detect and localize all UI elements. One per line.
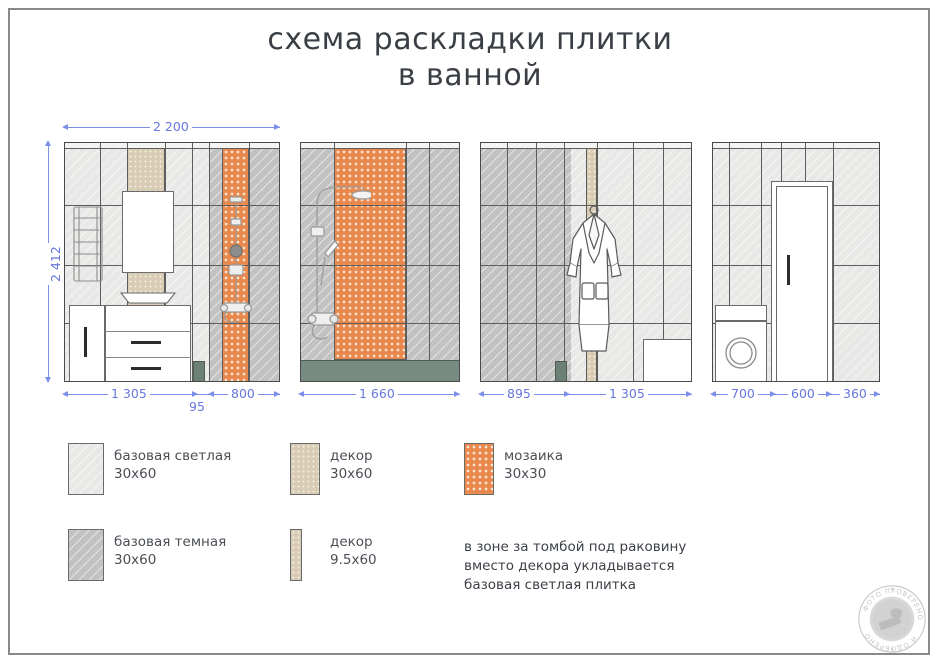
cabinet-handle: [84, 327, 87, 357]
bathrobe-icon: [565, 205, 623, 353]
dimension-wall3-895: 895: [504, 386, 534, 401]
door-leaf: [776, 186, 828, 382]
dimension-wall1-1305: 1 305: [108, 386, 150, 401]
legend-label-mosaic: мозаика: [504, 448, 563, 465]
legend-size-mosaic: 30x30: [504, 466, 546, 483]
wall2-floor-band: [301, 360, 460, 382]
legend-size-base-light: 30x60: [114, 466, 156, 483]
dimension-wall4-360: 360: [840, 386, 870, 401]
legend-swatch-decor-30x60: [290, 443, 320, 495]
wall-4-door: [712, 142, 880, 382]
legend-swatch-decor-9-5x60: [290, 529, 302, 581]
shower-set-icon: [217, 191, 255, 327]
legend-note-line3: базовая светлая плитка: [464, 576, 636, 595]
legend-label-base-dark: базовая темная: [114, 534, 226, 551]
washing-machine-drum-icon: [721, 333, 761, 373]
wall3-cabinet: [643, 339, 692, 382]
legend-label-base-light: базовая светлая: [114, 448, 231, 465]
dimension-wall2-1660: 1 660: [356, 386, 398, 401]
wall3-green-accent-box: [555, 361, 567, 382]
drawer-handle-2: [131, 367, 161, 370]
legend-size-decor-30x60: 30x60: [330, 466, 372, 483]
legend-size-base-dark: 30x60: [114, 552, 156, 569]
shower-riser-icon: [307, 181, 371, 359]
countertop: [715, 305, 767, 321]
dimension-top-total-label: 2 200: [150, 119, 192, 134]
dimension-wall4-700: 700: [728, 386, 758, 401]
wall-3-robe: [480, 142, 692, 382]
drawer-divider-2: [105, 357, 191, 358]
page-title-line1: схема раскладки плитки: [0, 22, 940, 58]
wall-2-shower: [300, 142, 460, 382]
mirror: [122, 191, 174, 273]
legend-swatch-mosaic: [464, 443, 494, 495]
washbasin-icon: [120, 291, 176, 305]
legend-label-decor-9-5x60: декор: [330, 534, 373, 551]
legend-swatch-base-light: [68, 443, 104, 495]
towel-rail-icon: [71, 205, 105, 283]
dimension-wall4-600: 600: [788, 386, 818, 401]
legend-size-decor-9-5x60: 9.5x60: [330, 552, 377, 569]
dimension-wall1-95: 95: [186, 399, 208, 414]
page-title-line2: в ванной: [0, 58, 940, 94]
door-handle: [787, 255, 790, 285]
green-accent-box: [193, 361, 205, 382]
page-title: схема раскладки плитки в ванной: [0, 22, 940, 94]
legend-swatch-base-dark: [68, 529, 104, 581]
dimension-wall3-1305: 1 305: [606, 386, 648, 401]
verified-photo-watermark: ФОТО ПРОВЕРЕНО И ОДОБРЕНО: [856, 583, 928, 655]
dimension-left-height-label: 2 412: [48, 243, 63, 285]
drawer-divider-1: [105, 331, 191, 332]
wall-1-sink-shower: [64, 142, 280, 382]
vanity-side-cabinet: [69, 305, 105, 382]
dimension-wall1-800: 800: [228, 386, 258, 401]
drawer-handle-1: [131, 341, 161, 344]
legend-label-decor-30x60: декор: [330, 448, 373, 465]
legend-note-line1: в зоне за томбой под раковину: [464, 538, 686, 557]
legend-note-line2: вместо декора укладывается: [464, 557, 674, 576]
